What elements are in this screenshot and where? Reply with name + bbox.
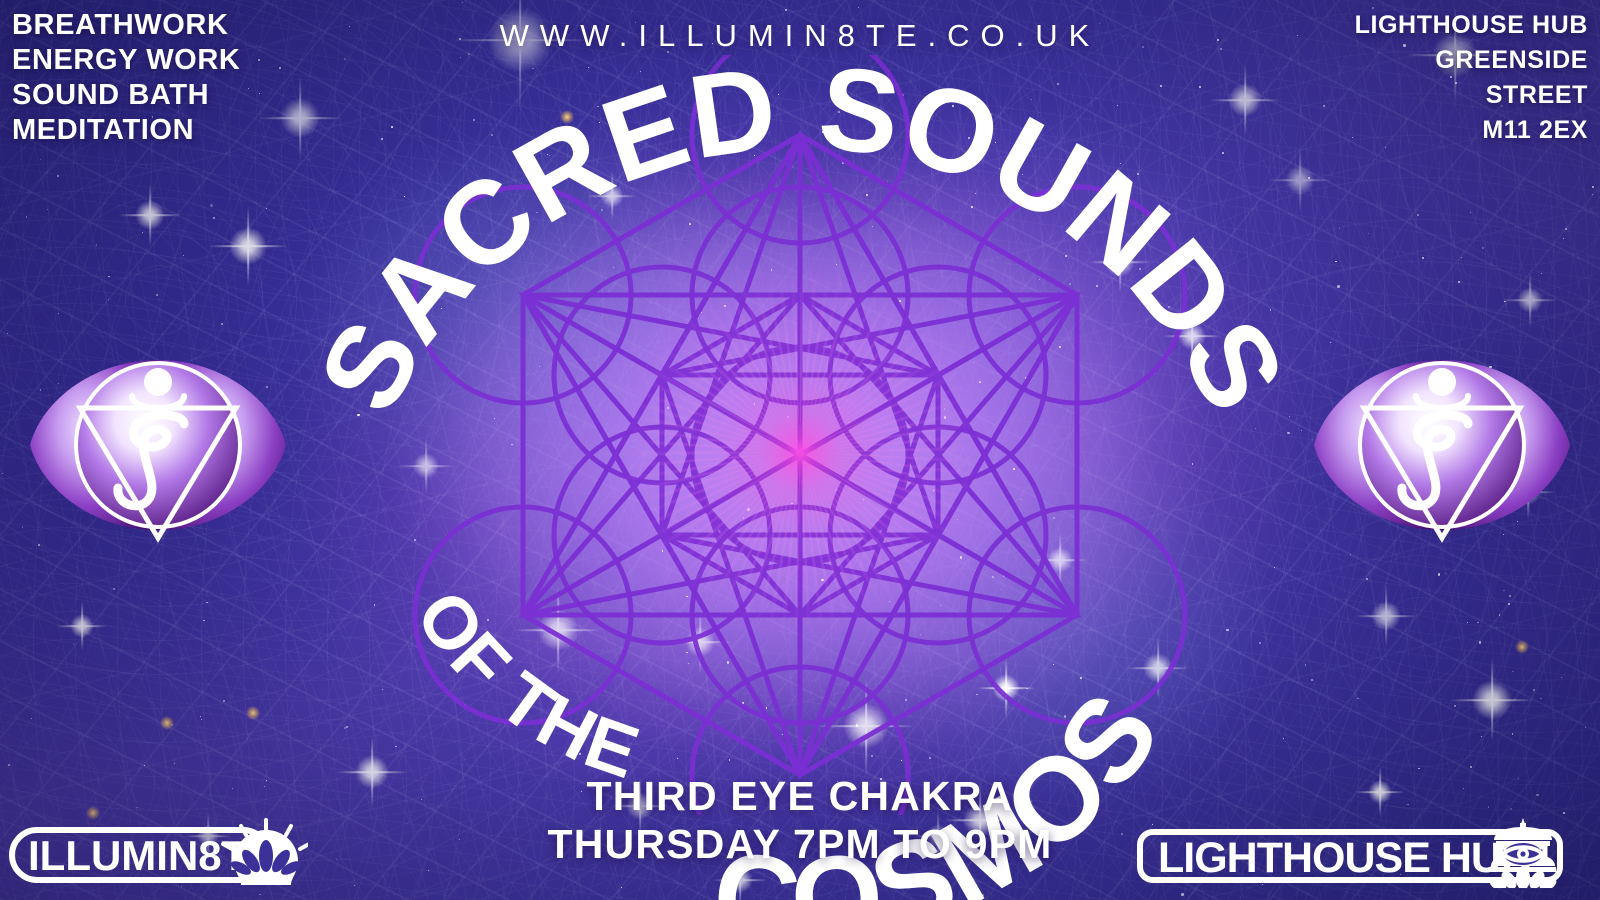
service-item: MEDITATION xyxy=(12,113,240,148)
third-eye-chakra-icon-right xyxy=(1292,340,1592,550)
poster-canvas: BREATHWORK ENERGY WORK SOUND BATH MEDITA… xyxy=(0,0,1600,900)
lighthouse-hub-wordmark: LIGHTHOUSE HUB xyxy=(1158,834,1531,882)
event-chakra-label: THIRD EYE CHAKRA xyxy=(0,772,1600,820)
address-line: M11 2EX xyxy=(1355,113,1588,148)
website-url[interactable]: WWW.ILLUMIN8TE.CO.UK xyxy=(0,18,1600,54)
lighthouse-hub-logo[interactable]: LIGHTHOUSE HUB xyxy=(1122,816,1592,888)
service-item: SOUND BATH xyxy=(12,78,240,113)
address-line: STREET xyxy=(1355,78,1588,113)
third-eye-chakra-icon-left xyxy=(8,340,308,550)
illumin8te-logo[interactable]: ILLUMIN8TE xyxy=(8,816,308,888)
